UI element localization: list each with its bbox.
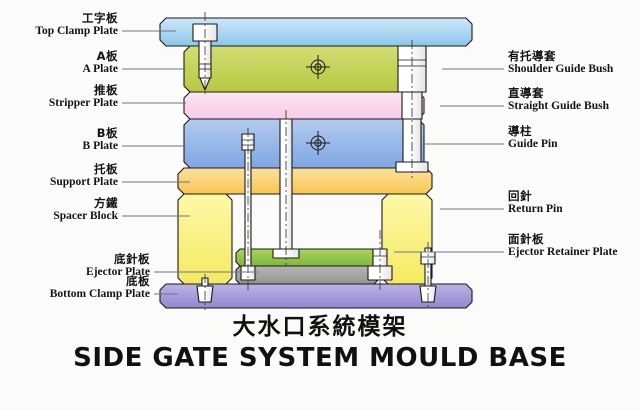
label-guide-pin: 導柱Guide Pin <box>508 125 558 152</box>
label-top-clamp-plate-english: Top Clamp Plate <box>35 25 118 39</box>
label-top-clamp-plate: 工字板Top Clamp Plate <box>35 12 118 39</box>
label-ejector-retainer-chinese: 面針板 <box>508 233 617 246</box>
label-a-plate-english: A Plate <box>83 63 118 77</box>
label-a-plate-chinese: A板 <box>83 50 118 63</box>
label-shoulder-guide-bush: 有托導套Shoulder Guide Bush <box>508 50 613 77</box>
title-english: SIDE GATE SYSTEM MOULD BASE <box>0 342 640 374</box>
label-shoulder-guide-bush-chinese: 有托導套 <box>508 50 613 63</box>
label-guide-pin-english: Guide Pin <box>508 138 558 152</box>
label-a-plate: A板A Plate <box>83 50 118 77</box>
label-spacer-block-chinese: 方鐵 <box>53 197 118 210</box>
label-return-pin-chinese: 回針 <box>508 190 563 203</box>
plate-a-plate <box>184 46 424 92</box>
label-straight-guide-bush: 直導套Straight Guide Bush <box>508 87 609 114</box>
label-b-plate-english: B Plate <box>83 140 118 154</box>
diagram-canvas: 工字板Top Clamp PlateA板A Plate推板Stripper Pl… <box>0 0 640 410</box>
plate-b-plate <box>184 119 424 168</box>
label-stripper-plate-english: Stripper Plate <box>49 97 118 111</box>
title-block: 大水口系統模架 SIDE GATE SYSTEM MOULD BASE <box>0 312 640 374</box>
label-support-plate: 托板Support Plate <box>50 163 118 190</box>
label-guide-pin-chinese: 導柱 <box>508 125 558 138</box>
label-bottom-clamp-plate-chinese: 底板 <box>50 275 150 288</box>
plate-ejector-plate <box>236 266 378 284</box>
label-stripper-plate: 推板Stripper Plate <box>49 84 118 111</box>
title-chinese: 大水口系統模架 <box>0 312 640 342</box>
label-return-pin-english: Return Pin <box>508 203 563 217</box>
label-ejector-plate-chinese: 底針板 <box>86 253 150 266</box>
label-bottom-clamp-plate-english: Bottom Clamp Plate <box>50 288 150 302</box>
label-top-clamp-plate-chinese: 工字板 <box>35 12 118 25</box>
label-support-plate-english: Support Plate <box>50 176 118 190</box>
label-return-pin: 回針Return Pin <box>508 190 563 217</box>
label-straight-guide-bush-english: Straight Guide Bush <box>508 100 609 114</box>
label-support-plate-chinese: 托板 <box>50 163 118 176</box>
label-straight-guide-bush-chinese: 直導套 <box>508 87 609 100</box>
label-spacer-block: 方鐵Spacer Block <box>53 197 118 224</box>
label-ejector-retainer-english: Ejector Retainer Plate <box>508 246 617 260</box>
plate-spacer-block-left <box>178 194 232 284</box>
label-spacer-block-english: Spacer Block <box>53 210 118 224</box>
label-shoulder-guide-bush-english: Shoulder Guide Bush <box>508 63 613 77</box>
label-bottom-clamp-plate: 底板Bottom Clamp Plate <box>50 275 150 302</box>
plate-ejector-retainer-plate <box>236 249 378 266</box>
plate-stripper-plate <box>184 92 424 119</box>
label-stripper-plate-chinese: 推板 <box>49 84 118 97</box>
label-b-plate: B板B Plate <box>83 127 118 154</box>
label-b-plate-chinese: B板 <box>83 127 118 140</box>
plate-support-plate <box>178 168 432 194</box>
label-ejector-retainer: 面針板Ejector Retainer Plate <box>508 233 617 260</box>
